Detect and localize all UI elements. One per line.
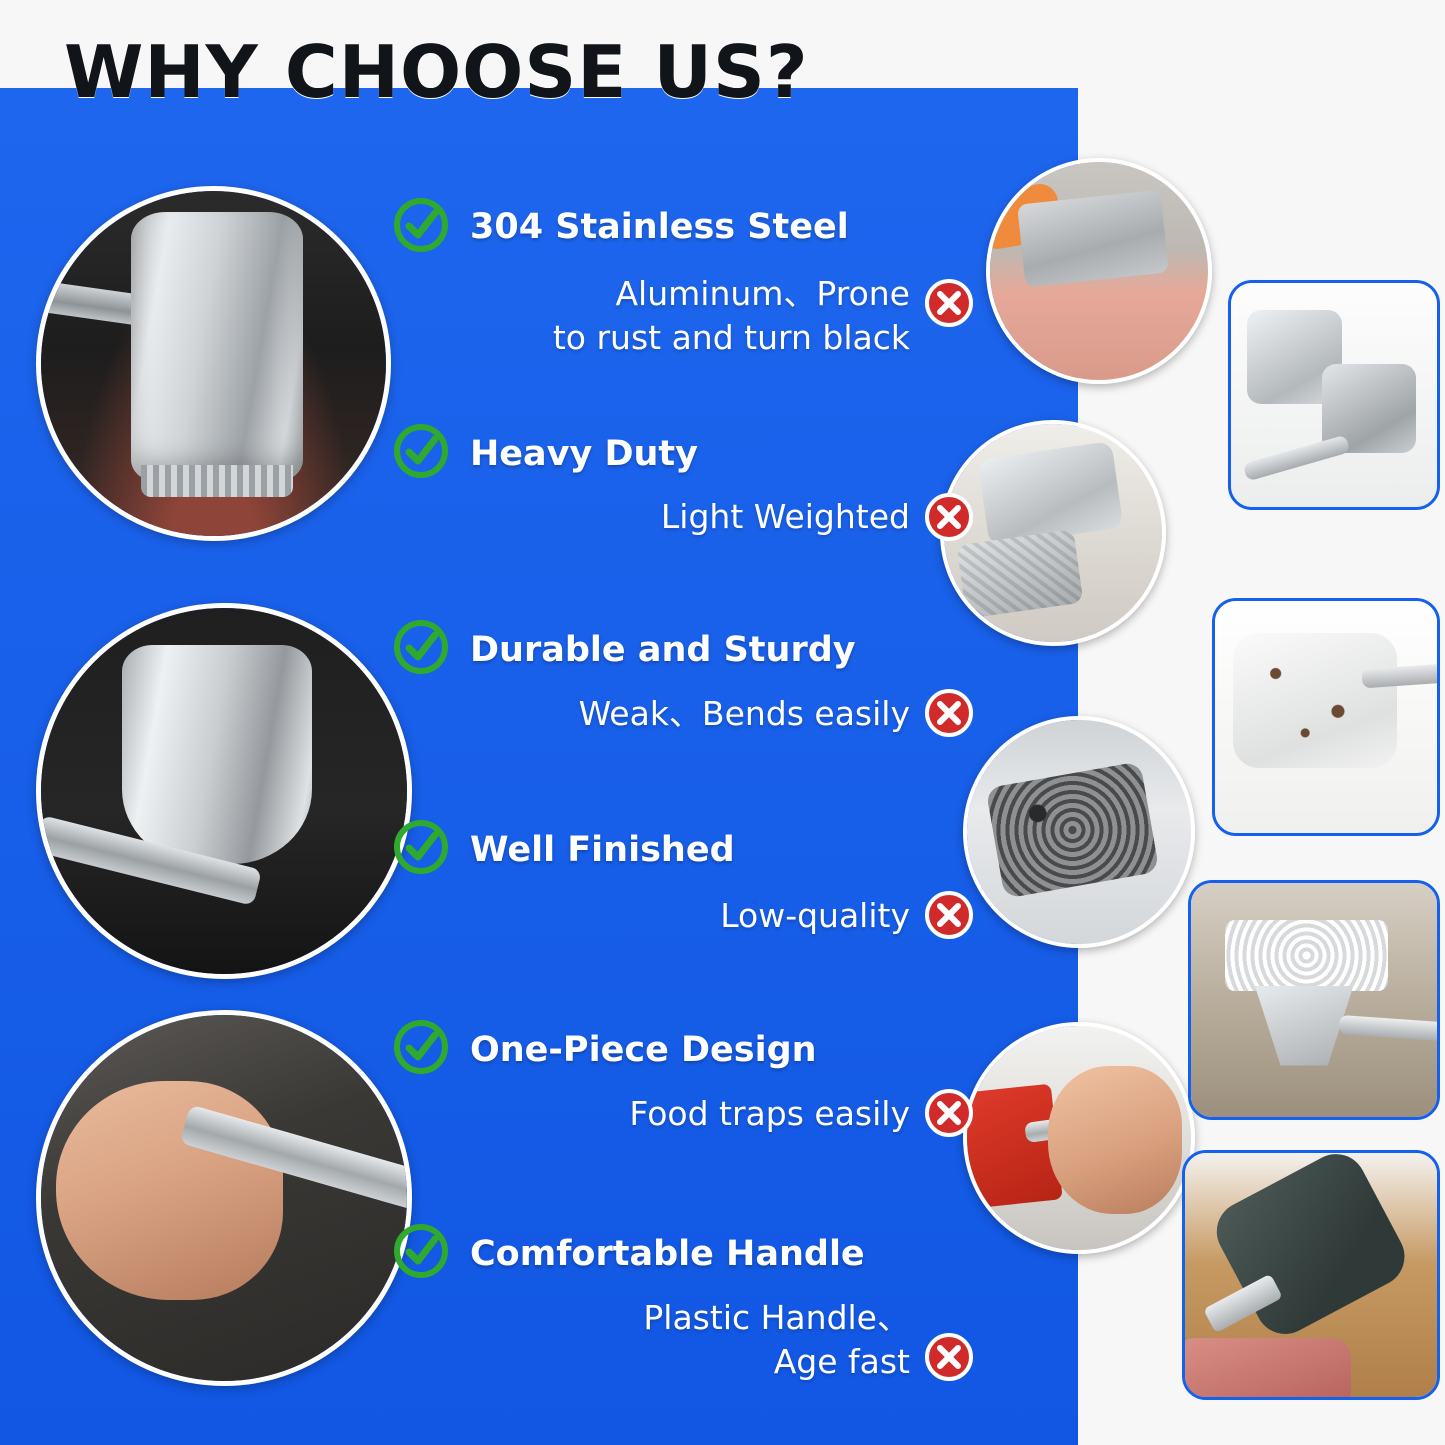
mallet-head-shape	[122, 645, 312, 865]
black-handle-mallet-product	[1182, 1150, 1440, 1400]
green-check-circle-icon	[392, 422, 450, 480]
flat-head-mallet-product	[1212, 598, 1440, 836]
textured-head-shape	[1225, 920, 1387, 990]
green-check-circle-icon	[392, 818, 450, 876]
con-line-2: to rust and turn black	[553, 318, 910, 357]
con-line-1: Aluminum、Prone	[615, 274, 910, 313]
feature-pro-label: Durable and Sturdy	[470, 630, 856, 670]
page-title: WHY CHOOSE US?	[64, 30, 809, 114]
textured-head-mallet-product	[1188, 880, 1440, 1120]
feature-con-label: Plastic Handle、 Age fast	[470, 1296, 910, 1383]
red-cross-circle-icon	[922, 1086, 976, 1140]
green-check-circle-icon	[392, 196, 450, 254]
weak-mallet-photo	[963, 716, 1195, 948]
light-head-shape	[978, 441, 1124, 546]
feature-con-label: Weak、Bends easily	[500, 692, 910, 736]
mallet-rod-shape	[1338, 1015, 1440, 1042]
dual-head-mallet-product	[1228, 280, 1440, 510]
red-cross-circle-icon	[922, 686, 976, 740]
red-cross-circle-icon	[922, 276, 976, 330]
flat-head-shape	[1233, 633, 1397, 768]
con-line-1: Plastic Handle、	[643, 1298, 910, 1337]
feature-pro-label: 304 Stainless Steel	[470, 207, 849, 247]
feature-con-label: Aluminum、Prone to rust and turn black	[470, 272, 910, 359]
red-cross-circle-icon	[922, 490, 976, 544]
low-quality-mallet-photo	[963, 1022, 1195, 1254]
red-cross-circle-icon	[922, 1330, 976, 1384]
feature-pro-label: Well Finished	[470, 830, 735, 870]
aluminum-head-shape	[1017, 190, 1169, 287]
mallet-head-shape	[131, 212, 304, 481]
feature-pro-label: Heavy Duty	[470, 434, 698, 474]
hand-gripping-handle-closeup	[36, 1010, 412, 1386]
red-cross-circle-icon	[922, 888, 976, 942]
green-check-circle-icon	[392, 618, 450, 676]
stainless-mallet-body-closeup	[36, 603, 412, 979]
con-line-2: Age fast	[774, 1342, 910, 1381]
meat-shape	[1182, 1338, 1351, 1400]
hand-shape	[56, 1081, 283, 1301]
feature-pro-label: Comfortable Handle	[470, 1234, 865, 1274]
aluminum-mallet-photo	[986, 158, 1212, 384]
hand-shape	[1048, 1066, 1182, 1214]
stainless-mallet-head-closeup	[36, 186, 391, 541]
feature-pro-label: One-Piece Design	[470, 1030, 817, 1070]
feature-con-label: Food traps easily	[560, 1092, 910, 1136]
green-check-circle-icon	[392, 1222, 450, 1280]
mallet-rod-shape	[1243, 434, 1351, 481]
spiked-head-shape	[985, 761, 1159, 899]
feature-con-label: Low-quality	[560, 894, 910, 938]
feature-con-label: Light Weighted	[520, 495, 910, 539]
green-check-circle-icon	[392, 1018, 450, 1076]
